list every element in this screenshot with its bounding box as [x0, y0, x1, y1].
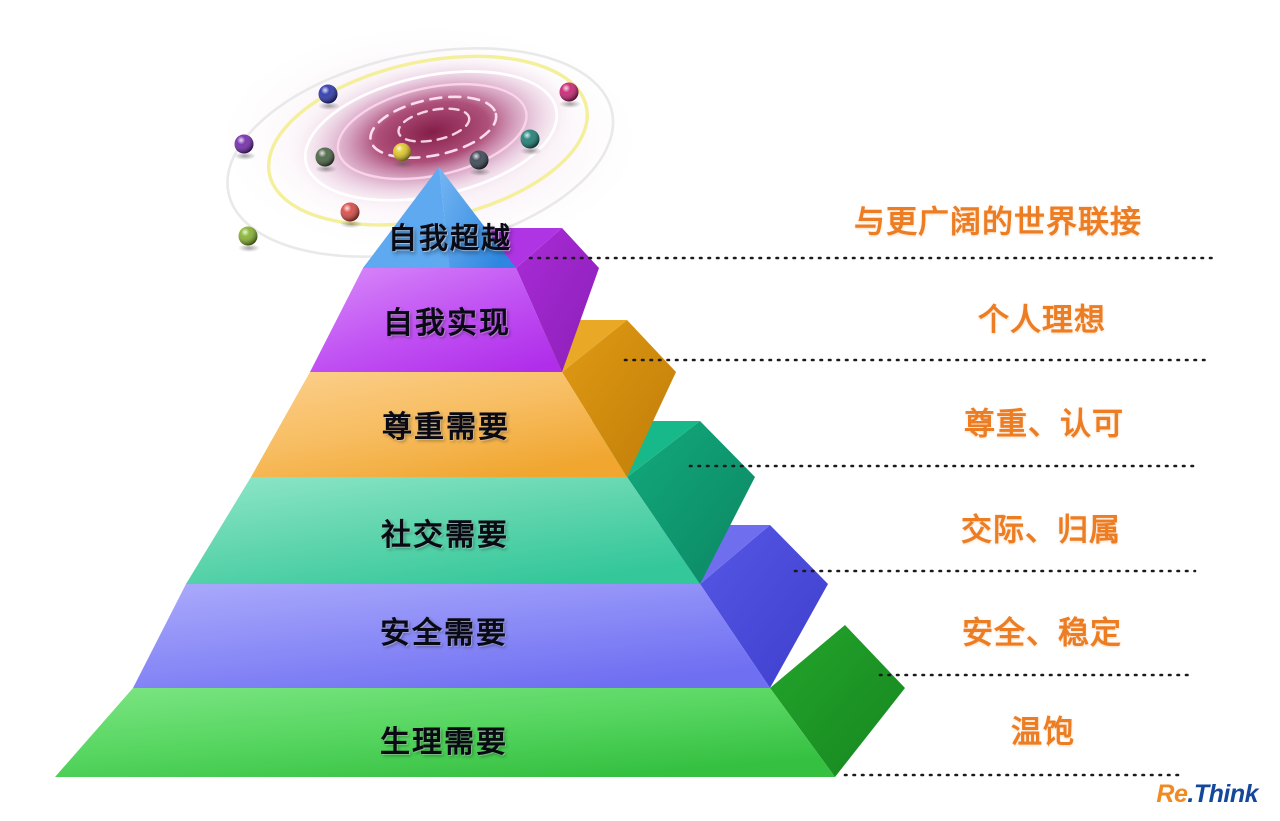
level-front-face: [55, 688, 835, 777]
pyramid-level-self-transcendence[interactable]: [363, 167, 516, 268]
caption-social-needs: 交际、归属: [961, 505, 1121, 550]
diagram-canvas: 自我超越 自我实现 尊重需要 社交需要 安全需要 生理需要 与更广阔的世界联接 …: [0, 0, 1280, 821]
caption-self-transcendence: 与更广阔的世界联接: [854, 197, 1142, 242]
level-front-face: [251, 372, 627, 477]
logo-suffix: Think: [1194, 780, 1258, 808]
caption-esteem-needs: 尊重、认可: [964, 399, 1124, 444]
caption-physiological-needs: 温饱: [1011, 707, 1075, 752]
level-apex-left-face: [363, 167, 450, 268]
rethink-logo: Re.Think: [1156, 780, 1258, 809]
caption-safety-needs: 安全、稳定: [962, 608, 1122, 653]
caption-self-actualization: 个人理想: [978, 295, 1106, 340]
level-front-face: [186, 477, 700, 584]
level-front-face: [133, 584, 770, 688]
logo-prefix: Re: [1156, 780, 1187, 808]
